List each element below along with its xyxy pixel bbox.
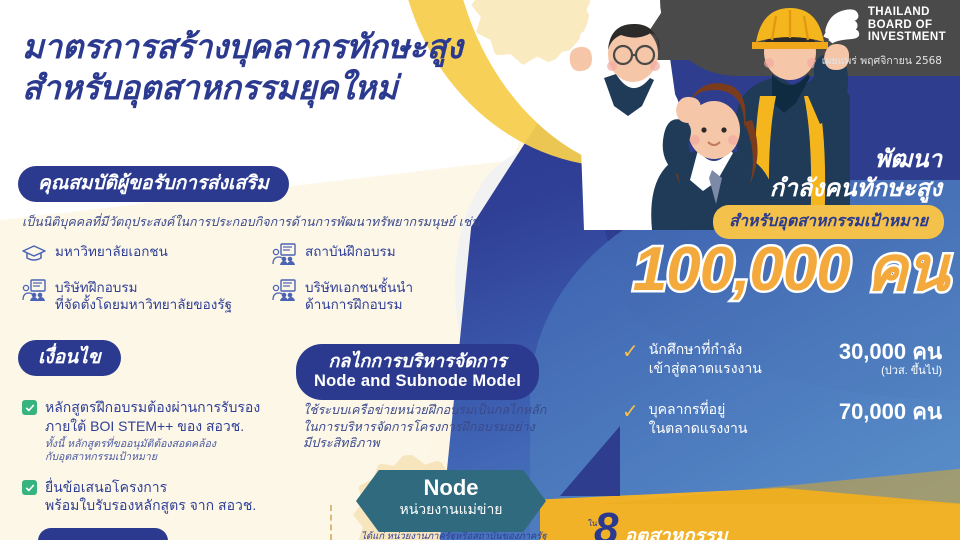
node-model-description: ใช้ระบบเครือข่ายหน่วยฝึกอบรมเป็นกลไกหลัก…: [303, 402, 548, 452]
footer-number: 8: [594, 510, 618, 540]
infographic-page: THAILAND BOARD OF INVESTMENT เผยแพร่ พฤศ…: [0, 0, 960, 540]
stat-value: 70,000 คน: [839, 399, 942, 424]
training-board-icon: [22, 279, 46, 301]
condition-text: ยื่นข้อเสนอโครงการ พร้อมใบรับรองหลักสูตร…: [45, 478, 256, 514]
node-model-heading: กลไกการบริหารจัดการ Node and Subnode Mod…: [296, 344, 539, 400]
qualification-description: เป็นนิติบุคคลที่มีวัตถุประสงค์ในการประกอ…: [22, 212, 480, 232]
right-heading-line-1: พัฒนา: [770, 146, 942, 174]
list-item-label: มหาวิทยาลัยเอกชน: [55, 243, 168, 260]
conditions-heading-pill: เงื่อนไข: [18, 340, 121, 376]
list-item: สถาบันฝึกอบรม: [272, 243, 522, 265]
node-heading-line-2: Node and Subnode Model: [314, 372, 521, 391]
footer-prefix: ใน: [588, 517, 597, 530]
logo-line-2: BOARD OF: [868, 19, 946, 32]
footer-industry-count: 8 อุตสาหกรรม: [594, 510, 727, 540]
stat-value-group: 30,000 คน (ปวส. ขึ้นไป): [839, 340, 942, 378]
check-icon: [22, 480, 37, 495]
conditions-next-pill-cutoff: [38, 528, 168, 540]
list-item: หลักสูตรฝึกอบรมต้องผ่านการรับรอง ภายใต้ …: [22, 398, 287, 464]
publish-date: เผยแพร่ พฤศจิกายน 2568: [822, 52, 942, 69]
list-item: ✓ นักศึกษาที่กำลัง เข้าสู่ตลาดแรงงาน 30,…: [622, 340, 942, 378]
list-item-label: บริษัทเอกชนชั้นนำ ด้านการฝึกอบรม: [305, 279, 413, 313]
target-breakdown-list: ✓ นักศึกษาที่กำลัง เข้าสู่ตลาดแรงงาน 30,…: [622, 340, 942, 460]
list-item: ✓ บุคลากรที่อยู่ ในตลาดแรงงาน 70,000 คน: [622, 400, 942, 438]
logo-line-3: INVESTMENT: [868, 31, 946, 44]
right-panel-heading: พัฒนา กำลังคนทักษะสูง: [770, 146, 942, 203]
list-item: บริษัทเอกชนชั้นนำ ด้านการฝึกอบรม: [272, 279, 522, 313]
list-item: มหาวิทยาลัยเอกชน: [22, 243, 272, 265]
stat-label: บุคลากรที่อยู่ ในตลาดแรงงาน: [649, 400, 829, 438]
boi-logo-text: THAILAND BOARD OF INVESTMENT: [868, 6, 946, 44]
check-icon: ✓: [622, 342, 639, 362]
conditions-heading: เงื่อนไข: [18, 340, 121, 376]
list-item-label: บริษัทฝึกอบรม ที่จัดตั้งโดยมหาวิทยาลัยขอ…: [55, 279, 232, 313]
node-model-heading-pill: กลไกการบริหารจัดการ Node and Subnode Mod…: [296, 344, 539, 400]
graduation-cap-icon: [22, 243, 46, 263]
check-icon: ✓: [622, 402, 639, 422]
stat-note: (ปวส. ขึ้นไป): [839, 364, 942, 378]
qualification-heading: คุณสมบัติผู้ขอรับการส่งเสริม: [18, 166, 289, 202]
page-title: มาตรการสร้างบุคลากรทักษะสูง สำหรับอุตสาห…: [22, 26, 463, 108]
dotted-connector: [330, 505, 332, 540]
boi-wave-logo-icon: [820, 6, 860, 44]
training-board-icon: [272, 279, 296, 301]
target-number: 100,000 คน: [633, 234, 948, 306]
training-board-icon: [272, 243, 296, 265]
list-item: ยื่นข้อเสนอโครงการ พร้อมใบรับรองหลักสูตร…: [22, 478, 287, 514]
node-footnote: ได้แก่ หน่วยงานภาครัฐหรือสถาบันของภาครัฐ: [336, 531, 572, 540]
stat-value: 30,000 คน: [839, 339, 942, 364]
boi-logo: THAILAND BOARD OF INVESTMENT: [820, 6, 946, 44]
footer-text: อุตสาหกรรม: [624, 526, 727, 540]
node-badge-title: Node: [356, 475, 546, 501]
right-heading-line-2: กำลังคนทักษะสูง: [770, 174, 942, 203]
qualification-items: มหาวิทยาลัยเอกชน สถาบันฝึกอบรม: [22, 243, 542, 313]
node-badge-subtitle: หน่วยงานแม่ข่าย: [356, 501, 546, 518]
stat-label: นักศึกษาที่กำลัง เข้าสู่ตลาดแรงงาน: [649, 340, 829, 378]
page-title-line-2: สำหรับอุตสาหกรรมยุคใหม่: [22, 67, 463, 108]
check-icon: [22, 400, 37, 415]
node-heading-line-1: กลไกการบริหารจัดการ: [314, 350, 521, 372]
list-item-label: สถาบันฝึกอบรม: [305, 243, 396, 260]
condition-text: หลักสูตรฝึกอบรมต้องผ่านการรับรอง ภายใต้ …: [45, 399, 260, 434]
conditions-list: หลักสูตรฝึกอบรมต้องผ่านการรับรอง ภายใต้ …: [22, 398, 287, 528]
stat-value-group: 70,000 คน: [839, 400, 942, 424]
page-title-line-1: มาตรการสร้างบุคลากรทักษะสูง: [22, 26, 463, 67]
qualification-heading-pill: คุณสมบัติผู้ขอรับการส่งเสริม: [18, 166, 289, 202]
node-badge: Node หน่วยงานแม่ข่าย: [356, 470, 546, 532]
logo-line-1: THAILAND: [868, 6, 946, 19]
list-item: บริษัทฝึกอบรม ที่จัดตั้งโดยมหาวิทยาลัยขอ…: [22, 279, 272, 313]
condition-subtext: ทั้งนี้ หลักสูตรที่ขออนุมัติต้องสอดคล้อง…: [45, 438, 260, 464]
